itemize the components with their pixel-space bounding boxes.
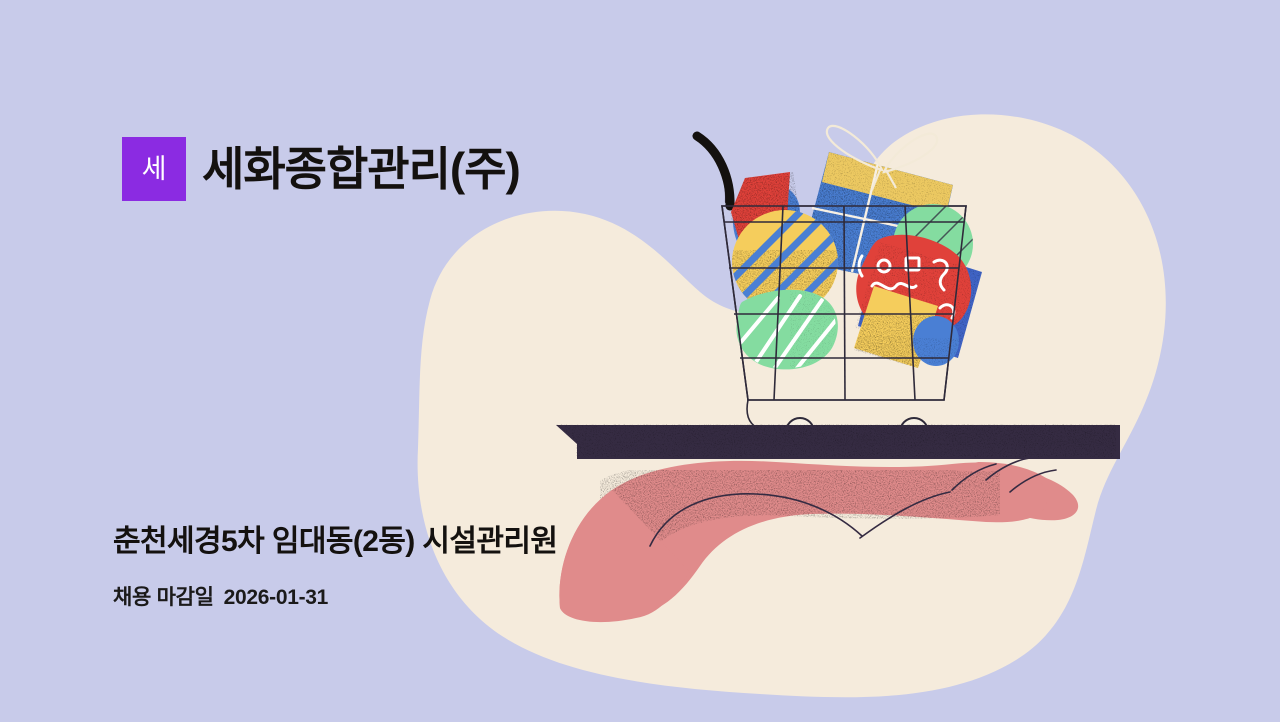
company-logo-badge: 세: [122, 137, 186, 201]
company-header: 세 세화종합관리(주): [122, 137, 520, 201]
job-title: 춘천세경5차 임대동(2동) 시설관리원: [113, 524, 557, 560]
company-name: 세화종합관리(주): [202, 146, 520, 192]
deadline-date: 2026-01-31: [224, 586, 328, 609]
deadline-label: 채용 마감일: [113, 586, 214, 609]
job-deadline: 채용 마감일2026-01-31: [113, 585, 328, 610]
job-posting-card: 세 세화종합관리(주) 춘천세경5차 임대동(2동) 시설관리원 채용 마감일2…: [0, 0, 1280, 722]
